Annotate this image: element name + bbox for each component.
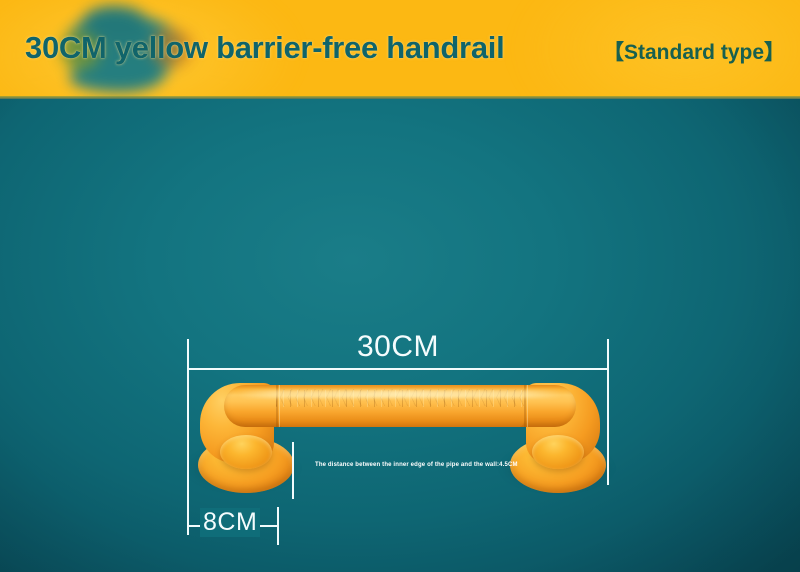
wall-gap-caption: The distance between the inner edge of t…: [315, 462, 518, 468]
page-title: 30CM yellow barrier-free handrail: [25, 30, 504, 66]
dimension-label-depth: 8CM: [200, 508, 260, 537]
handrail-specular-highlight: [238, 390, 562, 398]
dimension-line-wall-gap: [292, 442, 294, 499]
flange-collar-right: [532, 435, 584, 469]
product-banner: 30CM yellow barrier-free handrail 【Stand…: [0, 0, 800, 572]
flange-collar-left: [220, 435, 272, 469]
header-variant-label: 【Standard type】: [603, 36, 785, 66]
header-bar: 30CM yellow barrier-free handrail 【Stand…: [0, 0, 800, 99]
dimension-line-length: [187, 368, 609, 370]
dimension-label-length: 30CM: [188, 330, 608, 364]
handrail-illustration: [190, 377, 610, 497]
dimension-tick-depth-right: [277, 507, 279, 545]
dimension-tick-left: [187, 339, 189, 535]
product-stage: 30CM 8CM The distance between the inner …: [0, 99, 800, 572]
grip-texture-diagonal-lower: [276, 397, 526, 406]
